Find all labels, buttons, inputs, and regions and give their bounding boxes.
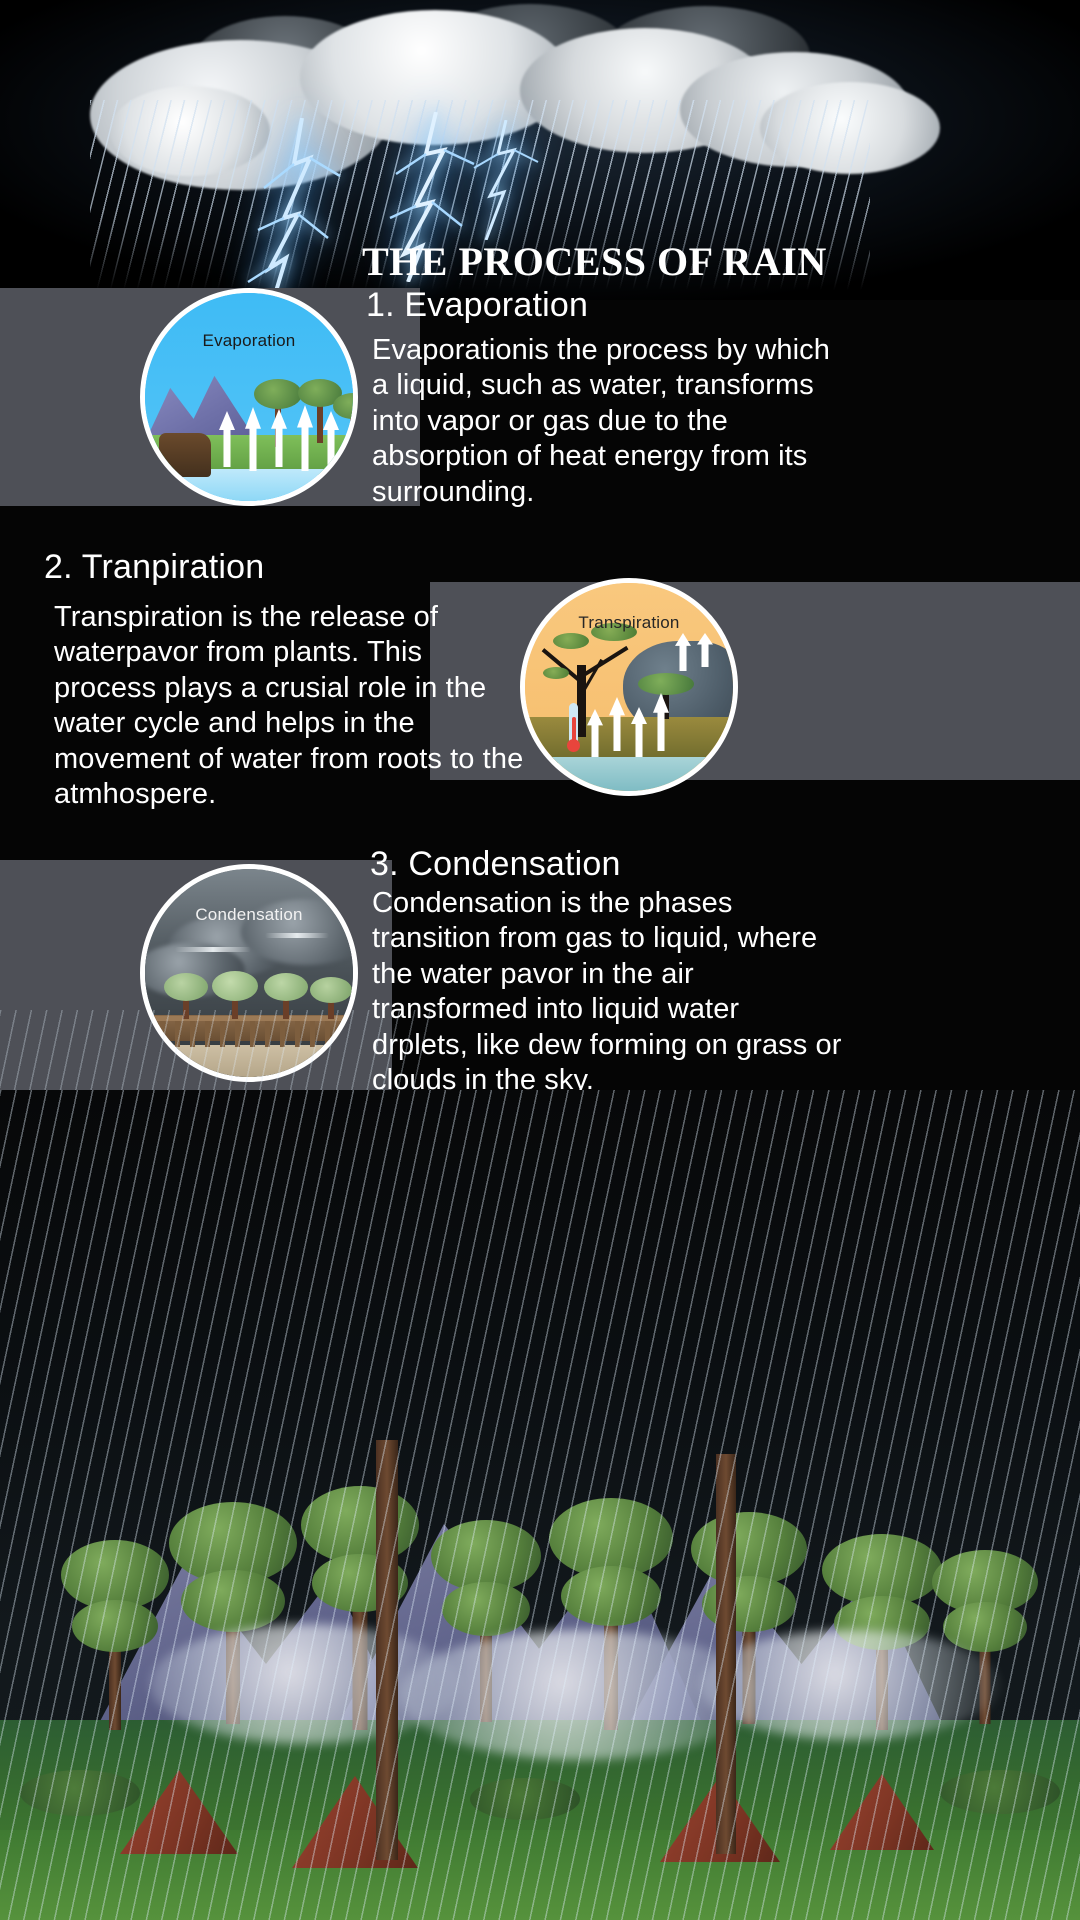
section-2-body: Transpiration is the release of waterpav… xyxy=(54,600,524,812)
forest-scene xyxy=(0,1090,1080,1920)
cloud-wisp xyxy=(265,933,329,938)
thermometer-icon xyxy=(569,703,578,747)
rain-streaks xyxy=(0,1090,1080,1920)
foliage xyxy=(553,633,589,649)
section-1-heading: 1. Evaporation xyxy=(366,286,926,325)
rain-streaks-overlay xyxy=(0,1010,430,1092)
water xyxy=(525,757,733,791)
condensation-circle-label: Condensation xyxy=(145,905,353,925)
tree-stump-icon xyxy=(159,433,211,477)
lightning-bolt-icon xyxy=(240,118,370,298)
lightning-bolt-icon xyxy=(462,120,552,240)
evaporation-circle-label: Evaporation xyxy=(145,331,353,351)
transpiration-illustration: Transpiration xyxy=(520,578,738,796)
transpiration-circle-label: Transpiration xyxy=(525,613,733,633)
foliage xyxy=(543,667,569,679)
infographic-page: THE PROCESS OF RAIN 1. Evaporation Evapo… xyxy=(0,0,1080,1920)
section-3-heading: 3. Condensation xyxy=(370,845,910,884)
page-title: THE PROCESS OF RAIN xyxy=(362,240,982,284)
section-3-body: Condensation is the phases transition fr… xyxy=(372,886,842,1098)
section-1-body: Evaporationis the process by which a liq… xyxy=(372,333,842,510)
cloud-wisp xyxy=(175,947,251,952)
section-2-heading: 2. Tranpiration xyxy=(44,548,564,587)
evaporation-illustration: Evaporation xyxy=(140,288,358,506)
